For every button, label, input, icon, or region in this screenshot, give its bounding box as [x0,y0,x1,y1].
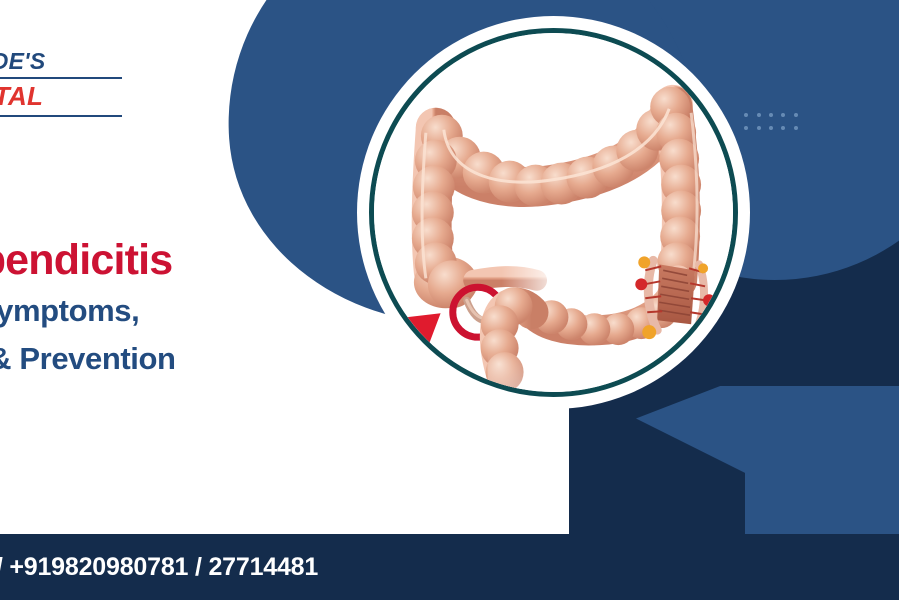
headline-line-2-navy: Symptoms, [0,293,139,328]
dot-icon [769,126,773,130]
large-intestine-colon-diagram [374,33,733,392]
dot-icon [794,126,798,130]
dot-grid-decoration [740,108,802,134]
dot-icon [757,113,761,117]
dot-icon [744,113,748,117]
headline-line-2: es: Symptoms, [0,293,354,328]
phone-numbers[interactable]: 11681 / +919820980781 / 27714481 [0,553,318,582]
dot-icon [794,113,798,117]
dot-icon [781,113,785,117]
headline-block: Appendicitis es: Symptoms, tors & Preven… [0,236,354,377]
logo-line1: SHPANDE'S [0,48,142,75]
dot-icon [744,126,748,130]
logo-divider-top [0,77,122,79]
dot-icon [781,126,785,130]
contact-footer-bar: 11681 / +919820980781 / 27714481 [0,534,899,600]
logo-line2: HOSPITAL [0,81,142,112]
logo-divider-bottom [0,115,122,117]
headline-line-3: tors & Prevention [0,341,354,376]
appendicitis-banner: SHPANDE'S HOSPITAL Appendicitis es: Symp… [0,0,899,600]
headline-line-1: Appendicitis [0,236,354,285]
dot-icon [769,113,773,117]
dot-icon [757,126,761,130]
blue-wedge-fill [745,386,899,534]
illustration-circle-frame [369,28,738,397]
deshpandes-hospital-logo[interactable]: SHPANDE'S HOSPITAL [0,48,142,117]
